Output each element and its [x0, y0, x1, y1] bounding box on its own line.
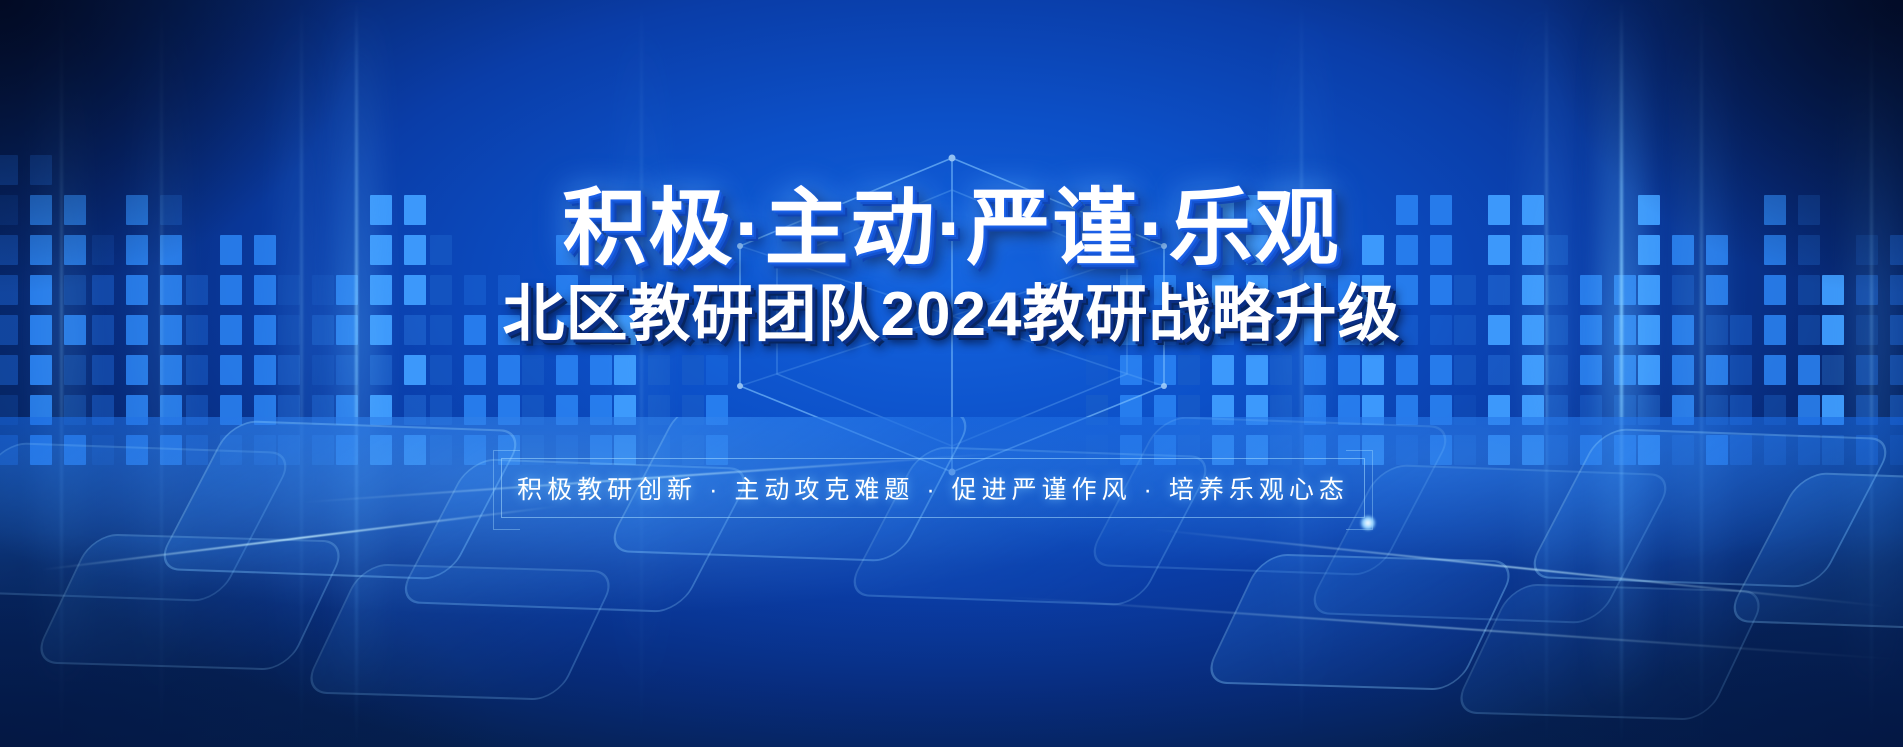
tagline-bar: 积极教研创新 · 主动攻克难题 · 促进严谨作风 · 培养乐观心态 [501, 458, 1365, 518]
glow-dot-icon [1360, 515, 1376, 531]
tech-conference-banner: 积极·主动·严谨·乐观 北区教研团队2024教研战略升级 积极教研创新 · 主动… [0, 0, 1903, 747]
tagline-text: 积极教研创新 · 主动攻克难题 · 促进严谨作风 · 培养乐观心态 [517, 470, 1349, 506]
banner-headline: 积极·主动·严谨·乐观 [563, 186, 1341, 270]
banner-content: 积极·主动·严谨·乐观 北区教研团队2024教研战略升级 [0, 0, 1903, 747]
banner-subline: 北区教研团队2024教研战略升级 [503, 284, 1401, 346]
